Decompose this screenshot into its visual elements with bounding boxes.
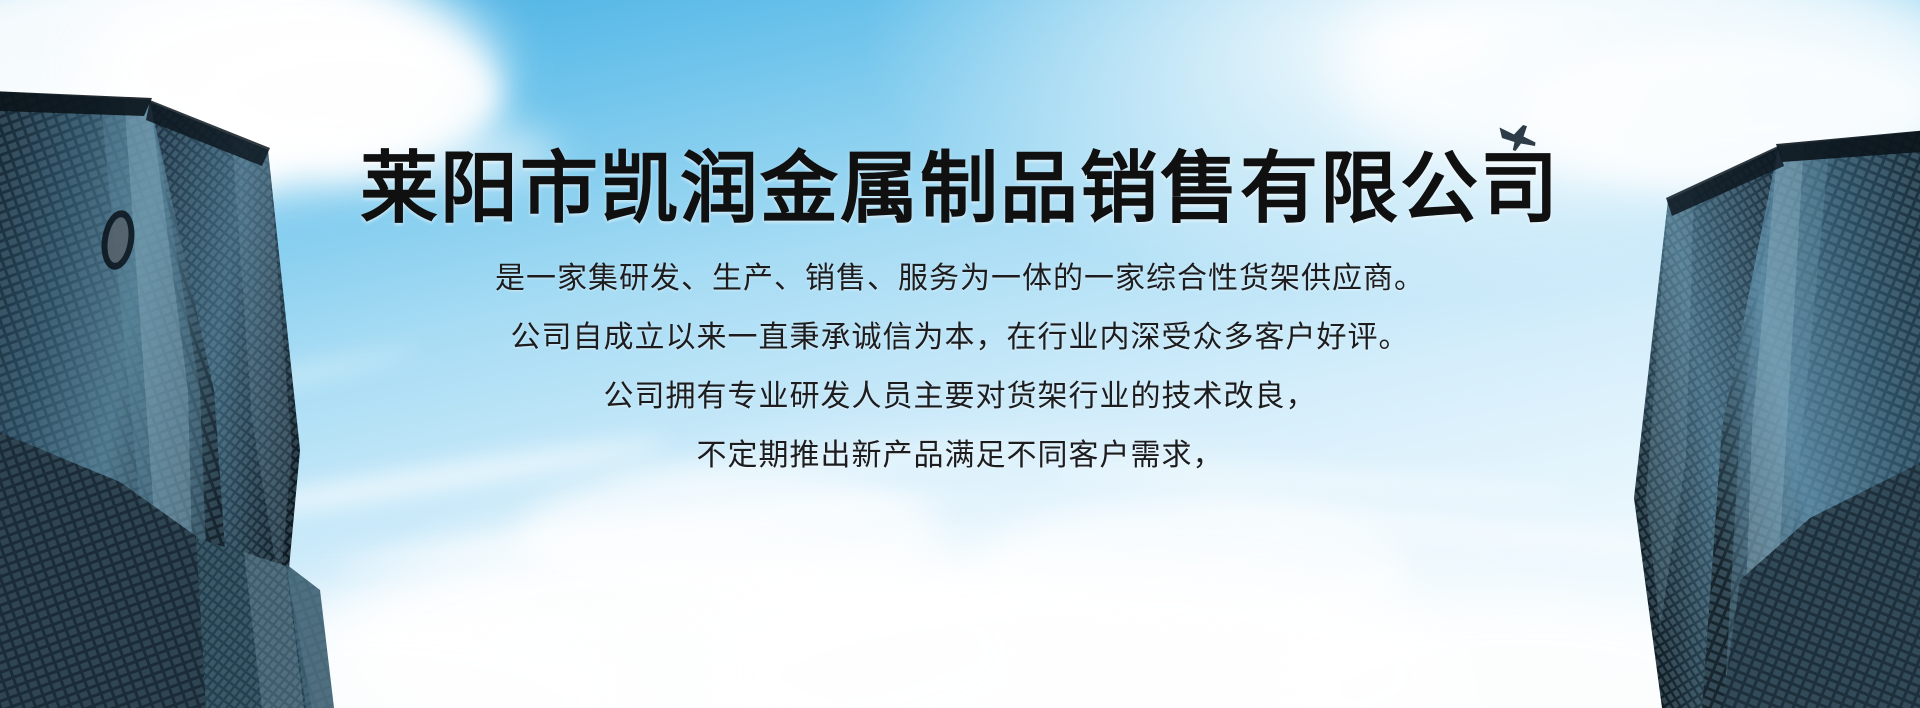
description-line-3: 公司拥有专业研发人员主要对货架行业的技术改良， (604, 382, 1317, 412)
page-title: 莱阳市凯润金属制品销售有限公司 (360, 150, 1560, 230)
banner-description: 是一家集研发、生产、销售、服务为一体的一家综合性货架供应商。 公司自成立以来一直… (495, 264, 1425, 500)
description-line-1: 是一家集研发、生产、销售、服务为一体的一家综合性货架供应商。 (495, 264, 1425, 294)
description-line-2: 公司自成立以来一直秉承诚信为本，在行业内深受众多客户好评。 (511, 323, 1410, 353)
company-hero-banner: 莱阳市凯润金属制品销售有限公司 是一家集研发、生产、销售、服务为一体的一家综合性… (0, 0, 1920, 708)
description-line-4: 不定期推出新产品满足不同客户需求， (697, 441, 1224, 471)
banner-text-content: 莱阳市凯润金属制品销售有限公司 是一家集研发、生产、销售、服务为一体的一家综合性… (0, 0, 1920, 708)
